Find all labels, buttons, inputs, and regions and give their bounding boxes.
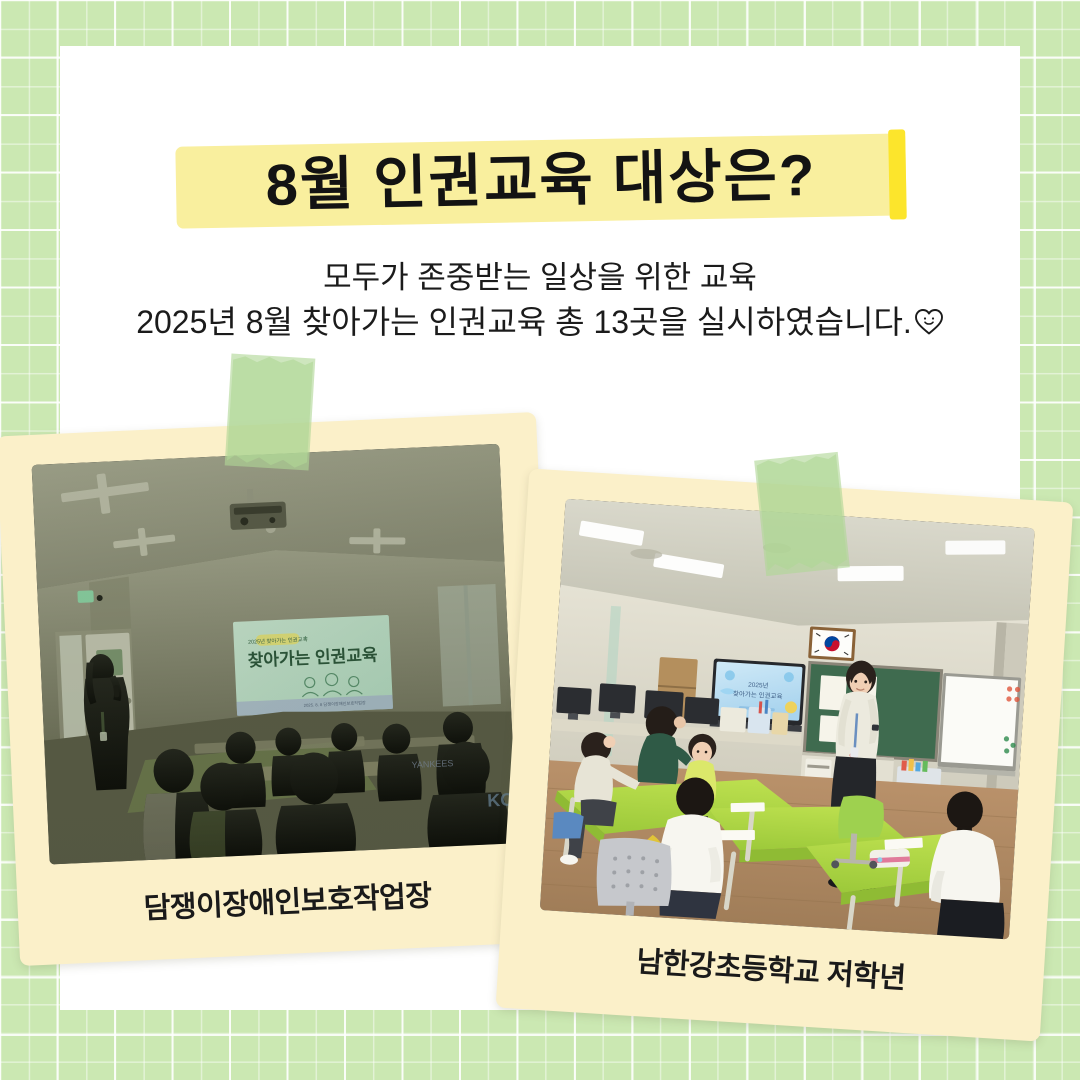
washi-tape-icon-1 — [225, 354, 316, 471]
title-highlight-bar: 8월 인권교육 대상은? — [175, 133, 906, 228]
photo-caption-1: 담쟁이장애인보호작업장 — [17, 867, 558, 933]
washi-tape-icon-2 — [754, 452, 850, 576]
poster-card: 8월 인권교육 대상은? 모두가 존중받는 일상을 위한 교육 2025년 8월… — [0, 0, 1080, 1080]
photo-caption-2: 남한강초등학교 저학년 — [498, 930, 1045, 1006]
subtitle-line-2-wrap: 2025년 8월 찾아가는 인권교육 총 13곳을 실시하였습니다. — [0, 300, 1080, 348]
subtitle-block: 모두가 존중받는 일상을 위한 교육 2025년 8월 찾아가는 인권교육 총 … — [0, 256, 1080, 348]
heart-smile-icon — [914, 304, 944, 348]
subtitle-line-1: 모두가 존중받는 일상을 위한 교육 — [0, 256, 1080, 300]
page-title: 8월 인권교육 대상은? — [176, 145, 907, 216]
subtitle-line-2: 2025년 8월 찾아가는 인권교육 총 13곳을 실시하였습니다. — [136, 304, 912, 340]
photo-image-1: 2025년 찾아가는 인권교육 + 찾아가는 인권교육 2025. 8. 8 담… — [32, 444, 518, 865]
photo-card-1[interactable]: 2025년 찾아가는 인권교육 + 찾아가는 인권교육 2025. 8. 8 담… — [0, 412, 560, 966]
